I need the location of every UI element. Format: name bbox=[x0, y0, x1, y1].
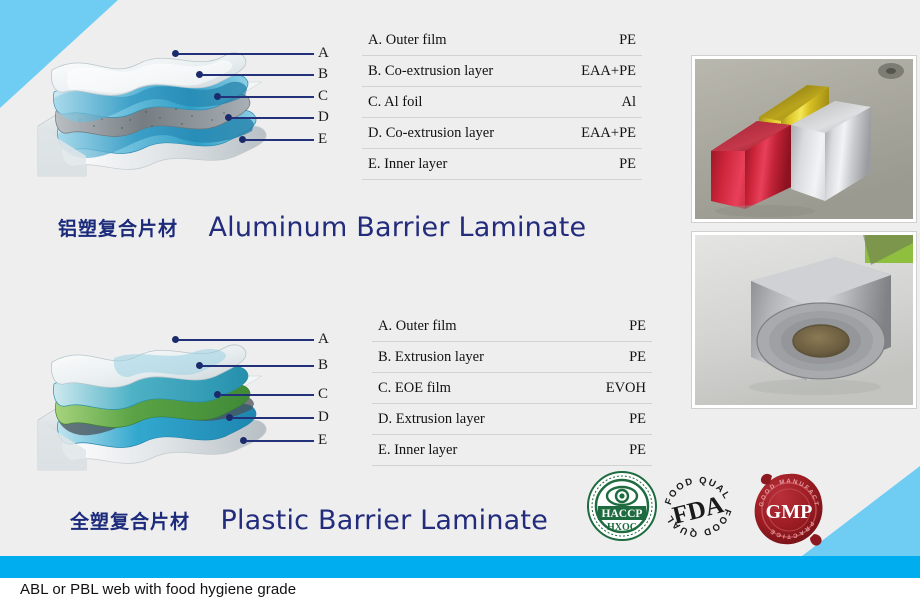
layer-material: EVOH bbox=[606, 373, 646, 403]
heading-chinese: 全塑复合片材 bbox=[70, 511, 190, 533]
slide-canvas: A B C D E A. Outer film PE B. Co-extrusi… bbox=[0, 0, 920, 601]
table-row: E. Inner layer PE bbox=[372, 435, 652, 466]
leader-letter-e2: E bbox=[318, 433, 327, 448]
slide-caption: ABL or PBL web with food hygiene grade bbox=[20, 578, 720, 601]
table-row: D. Co-extrusion layer EAA+PE bbox=[362, 118, 642, 149]
layer-name: C. Al foil bbox=[368, 87, 422, 117]
layer-material: PE bbox=[629, 435, 646, 465]
table-row: B. Extrusion layer PE bbox=[372, 342, 652, 373]
leader-letter-c2: C bbox=[318, 387, 328, 402]
leader-letter-a: A bbox=[318, 46, 329, 61]
table-row: D. Extrusion layer PE bbox=[372, 404, 652, 435]
leader-letter-e: E bbox=[318, 132, 327, 147]
layer-material: EAA+PE bbox=[581, 118, 636, 148]
leader-letter-d2: D bbox=[318, 410, 329, 425]
leader-line-c2 bbox=[220, 394, 314, 396]
heading-plastic: 全塑复合片材 Plastic Barrier Laminate bbox=[70, 505, 548, 536]
heading-chinese: 铝塑复合片材 bbox=[58, 218, 178, 240]
leader-letter-d: D bbox=[318, 110, 329, 125]
slide-body: A B C D E A. Outer film PE B. Co-extrusi… bbox=[0, 0, 920, 556]
table-row: B. Co-extrusion layer EAA+PE bbox=[362, 56, 642, 87]
table-row: C. EOE film EVOH bbox=[372, 373, 652, 404]
leader-line-d2 bbox=[232, 417, 314, 419]
leader-letter-b2: B bbox=[318, 358, 328, 373]
badge-haccp: HACCP HXOC bbox=[586, 470, 658, 542]
leader-letter-b: B bbox=[318, 67, 328, 82]
layer-material: PE bbox=[619, 149, 636, 179]
table-row: C. Al foil Al bbox=[362, 87, 642, 118]
bottom-accent-bar bbox=[0, 556, 920, 578]
diagram-aluminum-laminate bbox=[28, 8, 298, 203]
layer-name: B. Extrusion layer bbox=[378, 342, 484, 372]
layer-material: EAA+PE bbox=[581, 56, 636, 86]
heading-english: Plastic Barrier Laminate bbox=[220, 505, 548, 536]
layer-name: D. Extrusion layer bbox=[378, 404, 485, 434]
table-row: E. Inner layer PE bbox=[362, 149, 642, 180]
spec-table-aluminum: A. Outer film PE B. Co-extrusion layer E… bbox=[362, 25, 642, 180]
layer-name: E. Inner layer bbox=[378, 435, 457, 465]
gmp-primary-text: GMP bbox=[766, 501, 813, 523]
haccp-secondary-text: HXOC bbox=[607, 522, 637, 533]
diagram-plastic-laminate bbox=[28, 302, 298, 497]
layer-name: A. Outer film bbox=[368, 25, 447, 55]
leader-line-c bbox=[220, 96, 314, 98]
layer-material: PE bbox=[629, 311, 646, 341]
layer-name: B. Co-extrusion layer bbox=[368, 56, 493, 86]
leader-line-b2 bbox=[202, 365, 314, 367]
photo-colored-rolls bbox=[692, 56, 916, 222]
leader-line-d bbox=[231, 117, 314, 119]
layer-name: C. EOE film bbox=[378, 373, 451, 403]
layer-name: D. Co-extrusion layer bbox=[368, 118, 494, 148]
leader-line-b bbox=[202, 74, 314, 76]
layer-name: A. Outer film bbox=[378, 311, 457, 341]
heading-aluminum: 铝塑复合片材 Aluminum Barrier Laminate bbox=[58, 212, 586, 243]
layer-material: PE bbox=[629, 404, 646, 434]
leader-line-a bbox=[178, 53, 314, 55]
badge-gmp: GOOD MANUFACTURING PRACTICE GMP bbox=[748, 468, 830, 550]
leader-line-a2 bbox=[178, 339, 314, 341]
leader-line-e2 bbox=[246, 440, 314, 442]
spec-table-plastic: A. Outer film PE B. Extrusion layer PE C… bbox=[372, 311, 652, 466]
photo-silver-roll bbox=[692, 232, 916, 408]
layer-material: PE bbox=[619, 25, 636, 55]
table-row: A. Outer film PE bbox=[372, 311, 652, 342]
layer-material: PE bbox=[629, 342, 646, 372]
leader-line-e bbox=[245, 139, 314, 141]
layer-material: Al bbox=[622, 87, 637, 117]
table-row: A. Outer film PE bbox=[362, 25, 642, 56]
heading-english: Aluminum Barrier Laminate bbox=[208, 212, 586, 243]
layer-name: E. Inner layer bbox=[368, 149, 447, 179]
haccp-primary-text: HACCP bbox=[602, 508, 643, 520]
leader-letter-a2: A bbox=[318, 332, 329, 347]
badge-fda: FOOD QUALITY FOOD QUALITY FDA bbox=[658, 466, 738, 546]
leader-letter-c: C bbox=[318, 89, 328, 104]
